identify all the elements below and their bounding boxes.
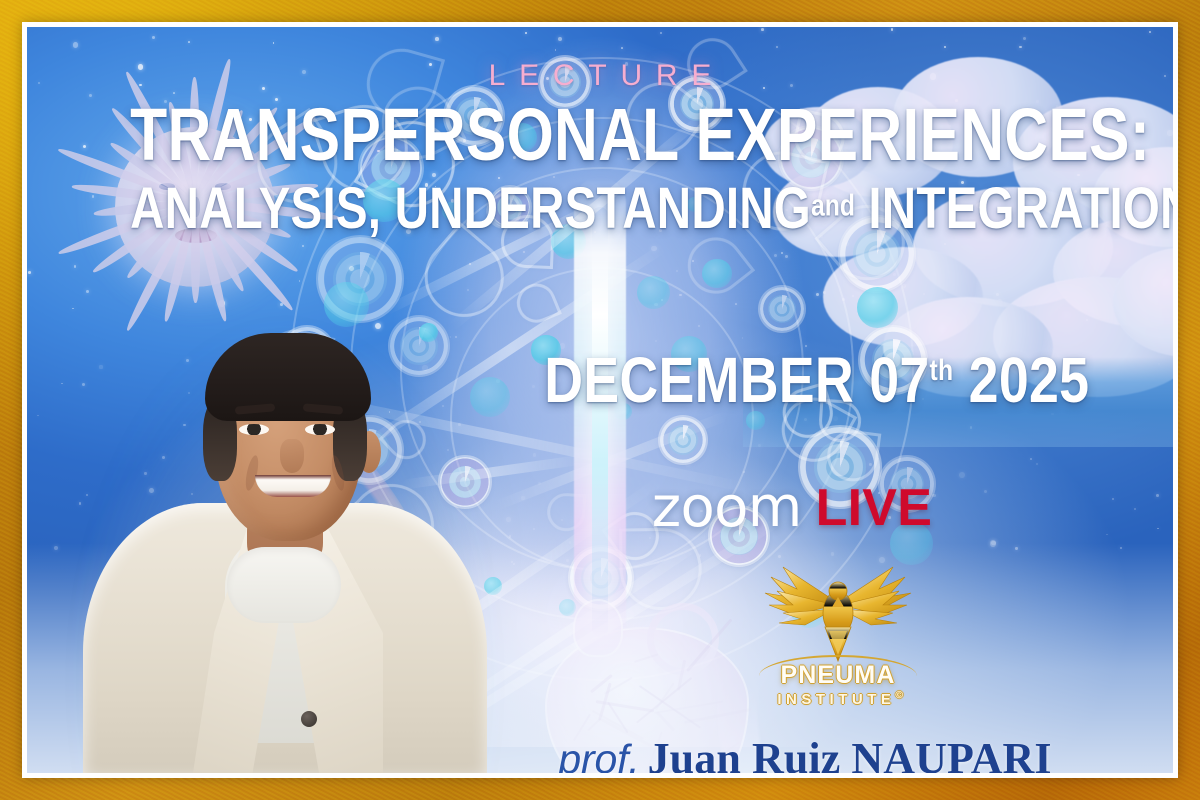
event-date: DECEMBER 07th 2025	[544, 343, 1040, 417]
poster-canvas: LECTURE TRANSPERSONAL EXPERIENCES: ANALY…	[27, 27, 1173, 773]
title-line-2: ANALYSIS, UNDERSTANDINGand INTEGRATION	[130, 180, 1070, 238]
poster-root: LECTURE TRANSPERSONAL EXPERIENCES: ANALY…	[0, 0, 1200, 800]
title-line-2-part-b: INTEGRATION	[868, 176, 1173, 241]
live-badge: LIVE	[816, 478, 933, 538]
kicker-label: LECTURE	[27, 59, 1173, 93]
logo-subtitle-text: INSTITUTE	[777, 691, 895, 708]
event-year: 2025	[969, 344, 1090, 416]
event-date-day: DECEMBER 07	[544, 344, 929, 416]
speaker-credit: prof.Juan Ruiz NAUPARI	[497, 733, 1113, 773]
inner-white-frame: LECTURE TRANSPERSONAL EXPERIENCES: ANALY…	[22, 22, 1178, 778]
title-line-2-part-a: ANALYSIS, UNDERSTANDING	[130, 176, 811, 241]
page-title: TRANSPERSONAL EXPERIENCES: ANALYSIS, UND…	[27, 99, 1173, 238]
logo-name: PNEUMA	[753, 661, 923, 690]
title-line-1: TRANSPERSONAL EXPERIENCES:	[130, 99, 1070, 170]
poster-content: LECTURE TRANSPERSONAL EXPERIENCES: ANALY…	[27, 27, 1173, 773]
speaker-name: Juan Ruiz NAUPARI	[648, 734, 1052, 773]
pneuma-institute-logo: PNEUMA INSTITUTE©	[753, 561, 923, 721]
registered-mark: ©	[895, 689, 903, 701]
platform-badge: zoomLIVE	[497, 475, 1087, 540]
speaker-prefix: prof.	[558, 736, 639, 773]
zoom-logo: zoom	[652, 475, 802, 540]
title-conjunction: and	[811, 189, 855, 222]
golden-eagle-icon	[753, 561, 923, 665]
logo-subtitle: INSTITUTE©	[753, 689, 923, 708]
event-date-ordinal: th	[930, 354, 954, 387]
